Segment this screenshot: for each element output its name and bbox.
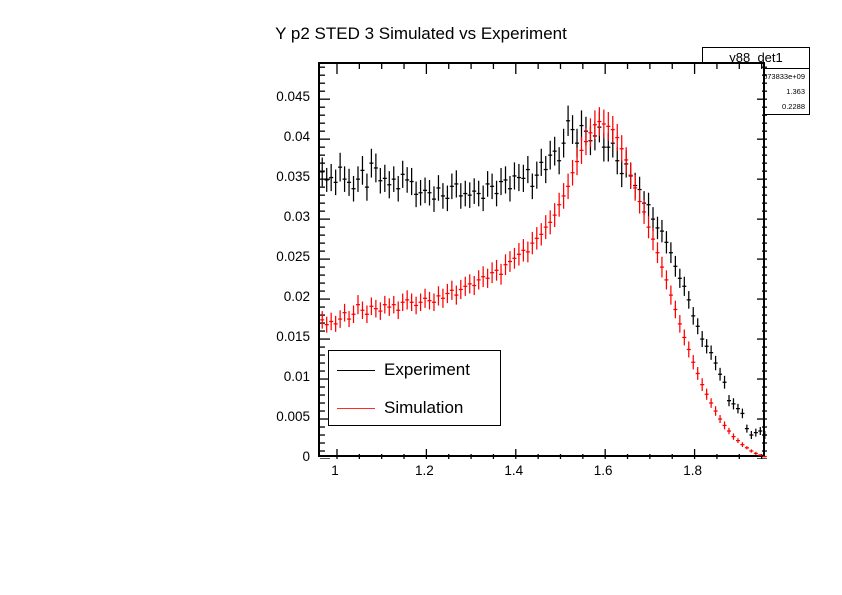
legend-line-experiment-icon [337, 370, 375, 371]
x-axis-tick-label: 1.8 [668, 463, 718, 478]
stats-row-value: 0.2288 [782, 102, 805, 111]
x-axis-tick-label: 1 [310, 463, 360, 478]
y-axis-tick-label: 0.04 [250, 129, 310, 144]
chart-legend: Experiment Simulation [328, 350, 501, 426]
y-axis-tick-label: 0.01 [250, 369, 310, 384]
y-axis-tick-label: 0.005 [250, 409, 310, 424]
legend-line-simulation-icon [337, 408, 375, 409]
stats-row-value: 1.363 [786, 87, 805, 96]
x-axis-tick-label: 1.4 [489, 463, 539, 478]
y-axis-tick-label: 0 [250, 449, 310, 464]
x-axis-tick-label: 1.2 [399, 463, 449, 478]
legend-item-experiment: Experiment [329, 351, 500, 389]
y-axis-tick-label: 0.025 [250, 249, 310, 264]
page-title: Y p2 STED 3 Simulated vs Experiment [0, 24, 842, 44]
legend-label-experiment: Experiment [384, 360, 470, 380]
y-axis-tick-label: 0.03 [250, 209, 310, 224]
y-axis-tick-label: 0.035 [250, 169, 310, 184]
legend-item-simulation: Simulation [329, 389, 500, 427]
y-axis-tick-label: 0.02 [250, 289, 310, 304]
x-axis-tick-label: 1.6 [578, 463, 628, 478]
root-canvas: Y p2 STED 3 Simulated vs Experiment y88_… [0, 0, 842, 595]
y-axis-tick-label: 0.015 [250, 329, 310, 344]
y-axis-tick-label: 0.045 [250, 89, 310, 104]
legend-label-simulation: Simulation [384, 398, 463, 418]
